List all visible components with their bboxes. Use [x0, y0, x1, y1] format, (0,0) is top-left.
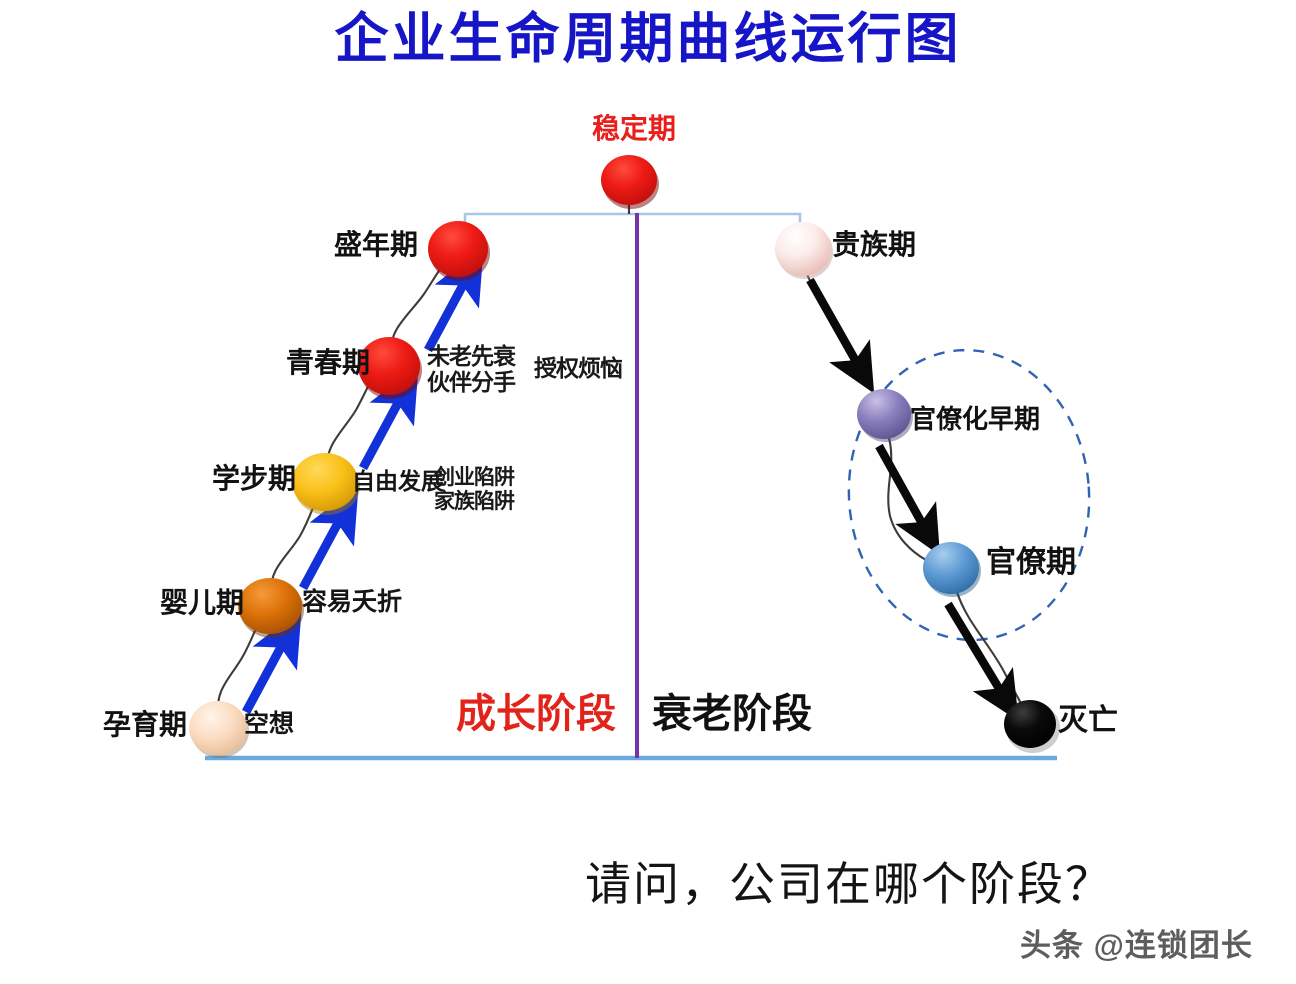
node-label-infancy: 婴儿期: [160, 590, 244, 618]
node-label-prime: 盛年期: [334, 232, 418, 260]
note-startup-traps: 创业陷阱 家族陷阱: [434, 466, 514, 513]
phase-label-growth: 成长阶段: [456, 694, 616, 734]
node-early-bureau[interactable]: [857, 389, 913, 442]
node-label-toddler: 学步期: [212, 466, 296, 494]
diagram-graphics: [0, 0, 1296, 984]
node-label-incubation: 孕育期: [103, 712, 187, 740]
node-label-aristocracy: 贵族期: [832, 232, 916, 260]
bottom-question: 请问，公司在哪个阶段？: [585, 862, 1113, 908]
node-infancy[interactable]: [238, 578, 304, 638]
note-premature: 未老先衰 伙伴分手: [427, 344, 515, 396]
lifecycle-diagram-canvas: 企业生命周期曲线运行图: [0, 0, 1296, 984]
node-death[interactable]: [1004, 700, 1060, 753]
node-label-death: 灭亡: [1058, 706, 1118, 736]
node-incubation[interactable]: [189, 701, 249, 758]
bureaucracy-highlight-ellipse: [839, 342, 1099, 648]
node-label-early-bureau: 官僚化早期: [910, 407, 1040, 433]
phase-label-aging: 衰老阶段: [652, 694, 812, 734]
node-stable[interactable]: [601, 155, 659, 209]
note-free-growth: 自由发展: [352, 470, 444, 493]
node-label-stable: 稳定期: [592, 116, 676, 144]
node-toddler[interactable]: [292, 453, 360, 515]
aging-arrows: [810, 280, 1006, 700]
note-delegation: 授权烦恼: [534, 357, 622, 380]
node-label-bureaucracy: 官僚期: [986, 548, 1076, 578]
note-easy-death: 容易夭折: [302, 590, 402, 615]
watermark: 头条 @连锁团长: [1020, 930, 1253, 961]
node-aristocracy[interactable]: [775, 222, 833, 279]
note-fantasy: 空想: [244, 712, 294, 737]
node-bureaucracy[interactable]: [923, 542, 981, 597]
node-label-adolescence: 青春期: [286, 350, 370, 378]
